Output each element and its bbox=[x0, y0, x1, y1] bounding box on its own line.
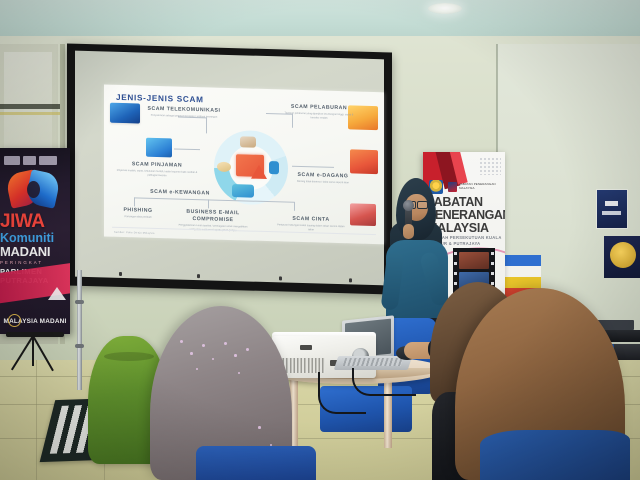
wall-notice-sign bbox=[596, 189, 628, 229]
slide-label-scam-pelaburan: SCAM PELABURAN Tawaran pelaburan yang di… bbox=[282, 103, 356, 121]
slide-footer: Sumber: Polis Diraja Malaysia bbox=[114, 231, 155, 235]
projection-screen: JENIS-JENIS SCAM bbox=[67, 43, 392, 294]
banner-left-logos bbox=[4, 154, 66, 166]
connector-arrow bbox=[174, 148, 200, 150]
laptop-loan-icon bbox=[146, 138, 172, 158]
house-icon bbox=[240, 136, 256, 147]
audience-blue-garment bbox=[480, 430, 630, 480]
presentation-slide: JENIS-JENIS SCAM bbox=[104, 84, 384, 244]
laptop-keyboard[interactable] bbox=[343, 358, 404, 366]
heart-romance-icon bbox=[350, 203, 376, 226]
slide-label-scam-e-dagang: SCAM e-DAGANG Barang tidak diterima / ti… bbox=[290, 172, 356, 186]
slide-label-scam-e-kewangan: SCAM e-KEWANGAN bbox=[138, 188, 222, 197]
banner-jiwa-komuniti-madani: JIWA Komuniti MADANI PERINGKAT PARLIMEN … bbox=[0, 148, 70, 334]
blue-chair-foreground bbox=[196, 446, 316, 480]
connector-arrow bbox=[208, 199, 209, 208]
pole-knob bbox=[75, 300, 84, 304]
chair-seam bbox=[104, 352, 154, 361]
shopping-card-icon bbox=[350, 149, 378, 174]
presenter-hand bbox=[403, 224, 414, 239]
cable bbox=[352, 368, 416, 396]
connector-arrow bbox=[294, 202, 295, 211]
coins-icon bbox=[217, 162, 231, 172]
banner-left-triangle bbox=[48, 287, 66, 300]
card-icon bbox=[269, 161, 279, 174]
people-laptop-icon bbox=[232, 184, 254, 198]
screen-clip bbox=[279, 276, 282, 280]
wall-seal-plaque bbox=[604, 236, 640, 278]
wall-trim-dark bbox=[0, 104, 62, 109]
slide-label-phishing: PHISHING Pancingan data peribadi bbox=[110, 207, 166, 220]
screen-surface: JENIS-JENIS SCAM bbox=[75, 51, 384, 286]
banner-left-line3: MADANI bbox=[0, 245, 70, 258]
microphone-head-icon bbox=[403, 200, 414, 211]
photo-scene: JENIS-JENIS SCAM bbox=[0, 0, 640, 480]
ceiling-light-icon bbox=[428, 3, 462, 14]
screen-clip bbox=[349, 278, 352, 282]
connector-arrow bbox=[292, 166, 334, 168]
screen-tripod-pole bbox=[77, 270, 82, 390]
slide-label-scam-cinta: SCAM CINTA Penipuan hubungan kasih sayan… bbox=[276, 215, 346, 232]
connector-arrow bbox=[206, 117, 207, 133]
heart-handshake-icon bbox=[6, 170, 64, 210]
projector-button[interactable] bbox=[300, 345, 312, 350]
screen-clip bbox=[119, 272, 122, 276]
pole-knob bbox=[75, 344, 84, 348]
banner-left-line2: Komuniti bbox=[0, 232, 70, 245]
banner-right-dots bbox=[479, 157, 501, 175]
connector-arrow bbox=[134, 197, 135, 206]
screen-clip bbox=[197, 274, 200, 278]
slide-label-scam-pinjaman: SCAM PINJAMAN Pinjaman mudah, cepat, kel… bbox=[114, 161, 200, 179]
fraud-alert-icon bbox=[236, 154, 264, 177]
slide-label-scam-telekomunikasi: SCAM TELEKOMUNIKASI Penyamaran sebagai p… bbox=[146, 106, 222, 120]
banner-left-headline: JIWA bbox=[0, 212, 70, 231]
tripod-stand bbox=[2, 336, 64, 390]
phone-card-icon bbox=[110, 103, 140, 124]
wreath-icon bbox=[8, 314, 21, 327]
wall-trim-yellow bbox=[0, 112, 62, 115]
